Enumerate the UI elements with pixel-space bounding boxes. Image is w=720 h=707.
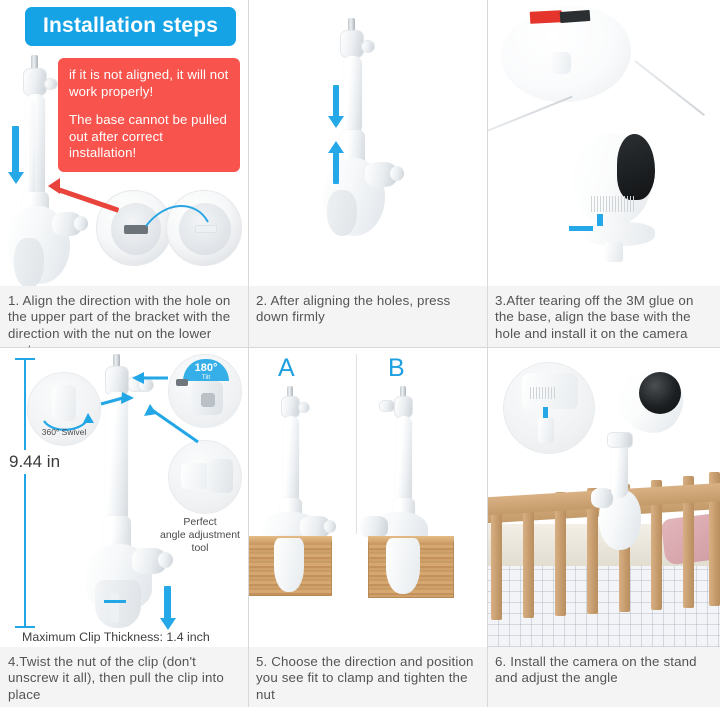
joint-knob	[44, 78, 58, 90]
cable	[634, 60, 705, 116]
arrow-shaft	[333, 152, 339, 184]
grid-divider-v1	[248, 0, 249, 348]
clip-jaw	[14, 238, 44, 286]
panel-step-4: 9.44 in	[0, 348, 248, 707]
grid-divider-v4	[487, 348, 488, 707]
arrow-head-down-icon	[8, 172, 24, 184]
steps-row-bottom: 9.44 in	[0, 348, 720, 707]
panel-step-5: A B	[248, 348, 487, 707]
swivel-joint	[394, 396, 413, 418]
arrow-head-down-icon	[160, 618, 176, 630]
warning-line-1: if it is not aligned, it will not work p…	[69, 67, 229, 100]
extension-tube	[611, 440, 628, 498]
step-2-illustration	[248, 0, 487, 286]
step-1-caption: 1. Align the direction with the hole on …	[0, 286, 248, 348]
arrow-shaft	[333, 85, 339, 118]
clip-thickness-note: Maximum Clip Thickness: 1.4 inch	[22, 630, 210, 644]
inset-connector-arrows	[0, 348, 248, 647]
panel-step-3: 3.After tearing off the 3M glue on the b…	[487, 0, 720, 348]
inset-insert-arrow-icon	[543, 407, 548, 418]
extension-tube	[396, 416, 412, 504]
step-4-caption: 4.Twist the nut of the clip (don't unscr…	[0, 647, 248, 707]
step-4-illustration: 9.44 in	[0, 348, 248, 647]
insert-arrow-left-icon	[569, 226, 593, 231]
arrow-shaft	[12, 126, 19, 174]
step-3-illustration	[487, 0, 720, 286]
insert-arrow-up-icon	[597, 214, 603, 226]
crib-slat	[491, 500, 502, 620]
screw-tip-icon	[31, 55, 38, 69]
step-6-illustration	[487, 348, 720, 647]
option-b-label: B	[388, 354, 405, 383]
warning-callout: if it is not aligned, it will not work p…	[58, 58, 240, 172]
grid-divider-v3	[248, 348, 249, 707]
arrow-head-left-icon	[48, 178, 60, 194]
clip-nut	[591, 488, 613, 508]
clip-jaw-front	[386, 538, 420, 594]
panel-step-2: 2. After aligning the holes, press down …	[248, 0, 487, 348]
inset-mount-stem	[538, 417, 554, 443]
clip-nut-cap	[390, 166, 404, 181]
panel-step-6: 6. Install the camera on the stand and a…	[487, 348, 720, 707]
grid-divider-v2	[487, 0, 488, 348]
clip-nut-cap	[324, 520, 336, 533]
page-title: Installation steps	[25, 7, 236, 46]
alignment-guide-line	[96, 186, 246, 256]
swivel-joint	[607, 432, 633, 448]
step-5-caption: 5. Choose the direction and position you…	[248, 647, 487, 707]
arrow-shaft	[164, 586, 171, 620]
warning-line-2: The base cannot be pulled out after corr…	[69, 112, 229, 162]
steps-row-top: if it is not aligned, it will not work p…	[0, 0, 720, 348]
camera-cable	[487, 96, 573, 132]
joint-knob	[361, 40, 375, 53]
extension-tube-upper	[343, 56, 362, 134]
joint-knob	[298, 402, 310, 413]
crib-slat	[523, 496, 534, 618]
joint-arm	[379, 400, 395, 412]
tube-highlight	[29, 100, 35, 194]
installation-steps-infographic: Installation steps	[0, 0, 720, 707]
camera-lens-hood	[617, 134, 655, 200]
inset-camera-vent	[530, 387, 556, 399]
3m-glue-pull-tab	[530, 10, 563, 24]
arrow-head-up-icon	[328, 141, 344, 153]
option-divider	[356, 354, 357, 534]
mount-stem	[605, 242, 623, 262]
clip-nut	[360, 516, 388, 538]
step-2-caption: 2. After aligning the holes, press down …	[248, 286, 487, 348]
clip-jaw-front	[274, 538, 304, 592]
panel-step-1: if it is not aligned, it will not work p…	[0, 0, 248, 348]
step-6-caption: 6. Install the camera on the stand and a…	[487, 647, 720, 707]
option-a-label: A	[278, 354, 295, 383]
camera-speaker-vent	[591, 196, 635, 212]
clip-nut-cap	[74, 216, 88, 231]
tab-dark-strip	[560, 10, 591, 23]
camera-base-detail-inset	[503, 362, 595, 454]
arrow-head-down-icon	[328, 116, 344, 128]
callout-tail-icon	[63, 158, 81, 172]
base-center-post	[549, 52, 571, 74]
extension-tube	[283, 416, 299, 504]
clip-jaw	[327, 190, 357, 236]
camera-lens	[639, 372, 681, 414]
step-3-caption: 3.After tearing off the 3M glue on the b…	[487, 286, 720, 348]
step-5-illustration: A B	[248, 348, 487, 647]
